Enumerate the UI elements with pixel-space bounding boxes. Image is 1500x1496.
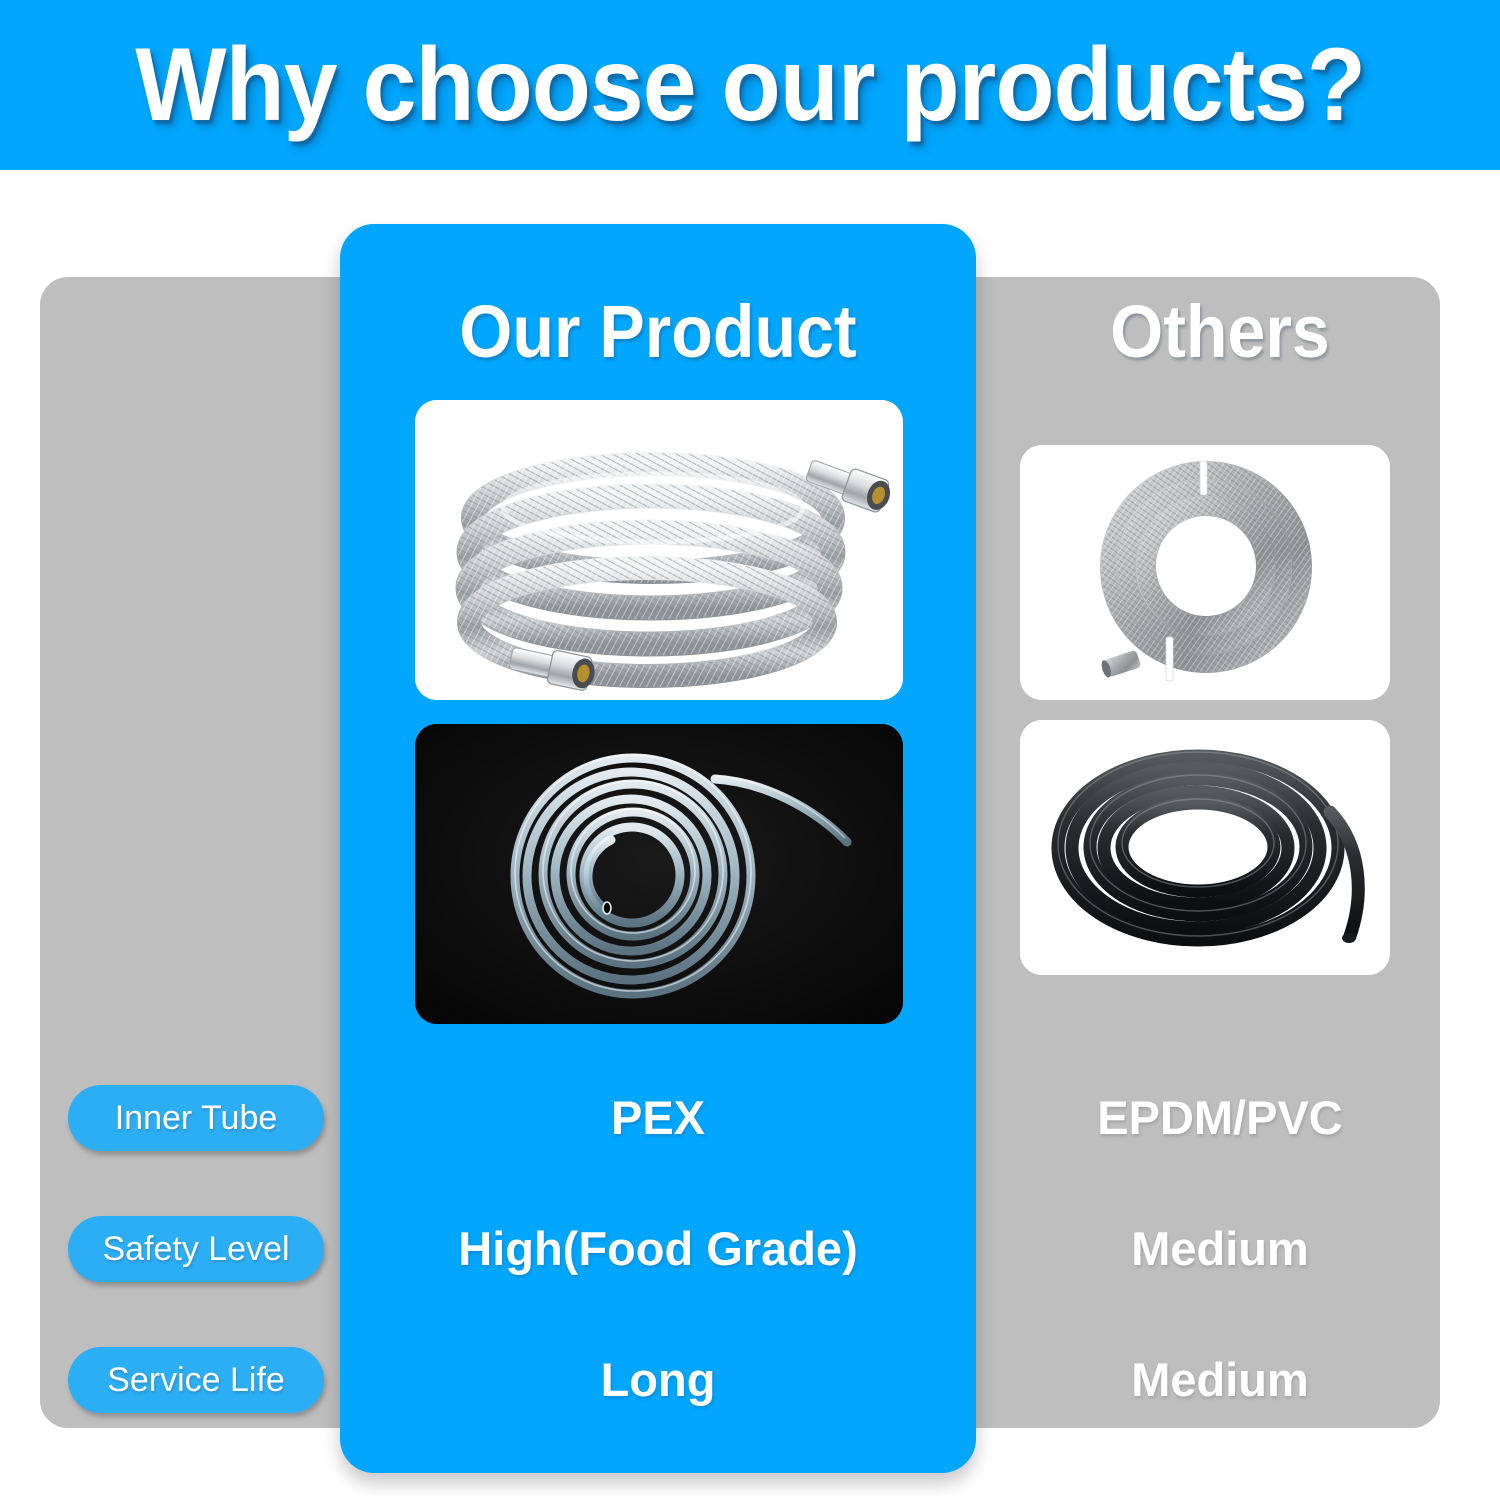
- header-banner: Why choose our products?: [0, 0, 1500, 170]
- attribute-pill-safety-level: Safety Level: [68, 1216, 324, 1282]
- clear-pex-tubing-photo: [415, 724, 903, 1024]
- others-value-service-life: Medium: [1000, 1347, 1440, 1413]
- black-rubber-tubing-image: [1020, 720, 1390, 975]
- clear-pex-tubing-image: [415, 724, 903, 1024]
- others-value-inner-tube: EPDM/PVC: [1000, 1085, 1440, 1151]
- our-value-inner-tube: PEX: [340, 1085, 976, 1151]
- our-value-service-life: Long: [340, 1347, 976, 1413]
- attribute-pill-label: Inner Tube: [115, 1099, 278, 1138]
- gray-braided-hose-image: [1020, 445, 1390, 700]
- others-heading: Others: [1018, 295, 1423, 369]
- braided-stainless-hose-image: [415, 400, 903, 700]
- braided-stainless-hose-photo: [415, 400, 903, 700]
- our-value-safety-level: High(Food Grade): [340, 1216, 976, 1282]
- black-rubber-tubing-photo: [1020, 720, 1390, 975]
- others-value-safety-level: Medium: [1000, 1216, 1440, 1282]
- attribute-pill-label: Service Life: [107, 1361, 285, 1400]
- gray-braided-hose-photo: [1020, 445, 1390, 700]
- attribute-pill-service-life: Service Life: [68, 1347, 324, 1413]
- attribute-pill-label: Safety Level: [102, 1230, 289, 1269]
- our-product-heading: Our Product: [365, 295, 950, 369]
- page-title: Why choose our products?: [135, 33, 1365, 137]
- attribute-pill-inner-tube: Inner Tube: [68, 1085, 324, 1151]
